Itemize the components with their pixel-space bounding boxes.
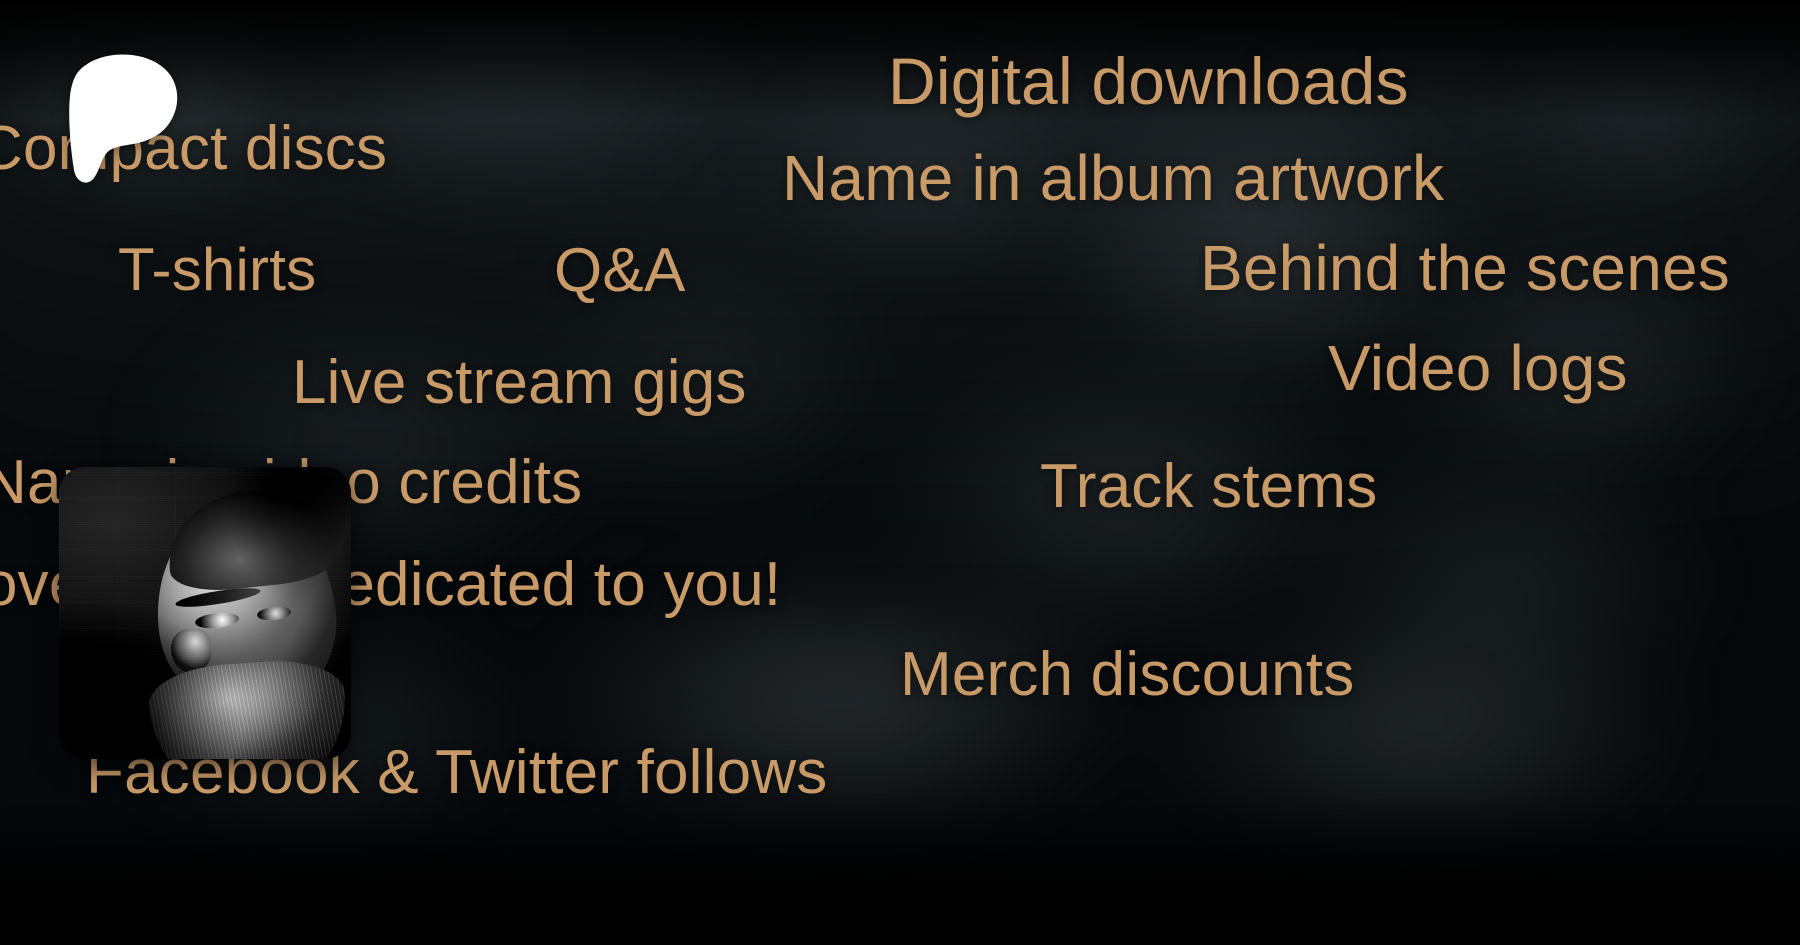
patreon-logo-icon[interactable] — [66, 52, 184, 184]
perk-label: Compact discs — [0, 118, 387, 180]
perk-label: Digital downloads — [888, 48, 1409, 114]
perk-label: Q&A — [554, 240, 686, 302]
creator-cover-banner: Compact discsDigital downloadsName in al… — [0, 0, 1800, 945]
perk-label: Merch discounts — [900, 644, 1354, 706]
perk-label: Live stream gigs — [292, 352, 747, 414]
creator-avatar[interactable] — [59, 467, 351, 759]
avatar-photo — [59, 467, 351, 759]
perk-label: Name in album artwork — [782, 146, 1444, 210]
perk-label: Track stems — [1040, 456, 1377, 518]
perk-label: T-shirts — [118, 240, 316, 300]
perk-label: Video logs — [1328, 336, 1628, 400]
perk-label: Behind the scenes — [1200, 236, 1730, 300]
avatar-grain — [59, 467, 351, 759]
